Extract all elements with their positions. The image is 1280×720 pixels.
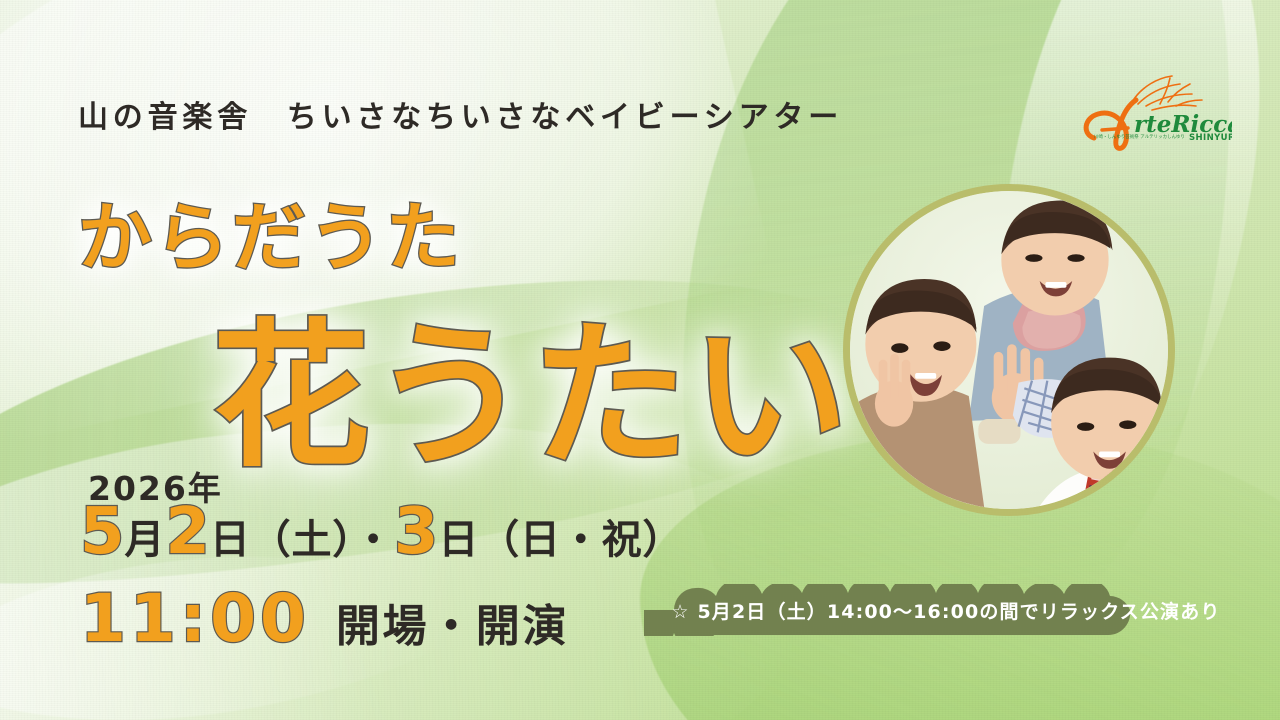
date-day1-kanji: 日（土）・ (210, 520, 394, 560)
poster-root: 山の音楽舎 ちいさなちいさなベイビーシアター rteRicca SHINYURI… (0, 0, 1280, 720)
date-day2-number: 3 (394, 500, 439, 564)
date-day1-number: 2 (165, 500, 210, 564)
date-day2-kanji: 日（日・祝） (438, 520, 683, 560)
banner-text: ☆ 5月2日（土）14:00〜16:00の間でリラックス公演あり (644, 584, 1248, 636)
time-value: 11:00 (80, 586, 310, 652)
logo-tagline: 川崎・しんゆり芸術祭 アルテリッカしんゆり (1094, 134, 1214, 140)
babies-photo-illustration (850, 191, 1168, 509)
babies-photo (843, 184, 1175, 516)
date-month-kanji: 月 (125, 520, 166, 560)
header-tagline: 山の音楽舎 ちいさなちいさなベイビーシアター (78, 92, 843, 136)
relax-performance-banner: ☆ 5月2日（土）14:00〜16:00の間でリラックス公演あり (644, 584, 1248, 636)
time-line: 11:00 開場・開演 (80, 586, 569, 652)
date-line: 5 月 2 日（土）・ 3 日（日・祝） (80, 500, 683, 564)
title-main: 花うたい (212, 268, 850, 497)
date-month-number: 5 (80, 500, 125, 564)
arte-ricca-logo: rteRicca SHINYURI 川崎・しんゆり芸術祭 アルテリッカしんゆり (1072, 62, 1232, 152)
time-label: 開場・開演 (336, 605, 569, 649)
